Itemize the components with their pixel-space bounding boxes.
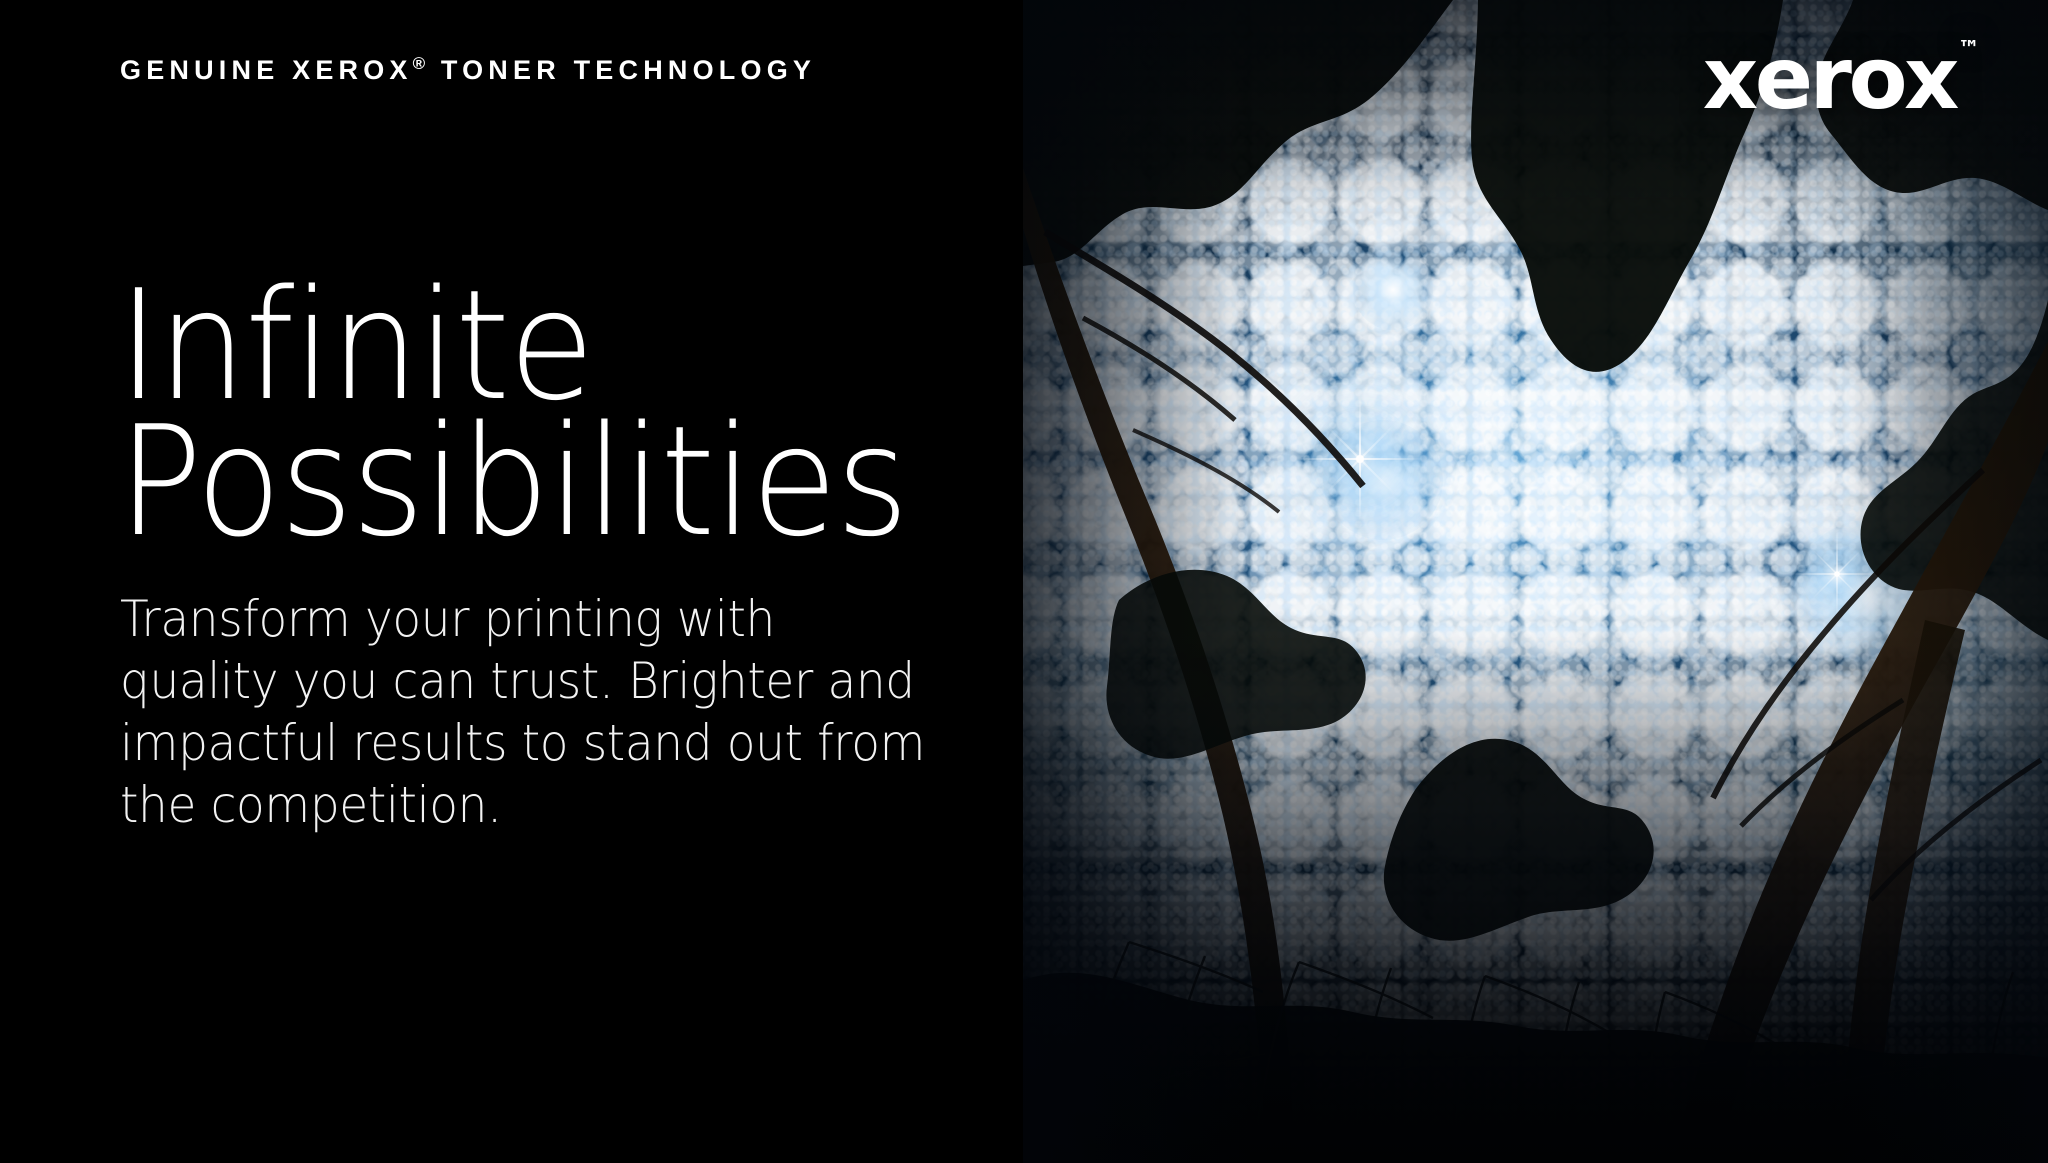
- headline-line-2: Possibilities: [118, 414, 909, 550]
- body-copy: Transform your printing with quality you…: [120, 588, 872, 836]
- registered-trademark-icon: ®: [413, 54, 429, 73]
- body-line-4: the competition.: [120, 774, 872, 836]
- body-line-2: quality you can trust. Brighter and: [120, 650, 872, 712]
- left-text-panel: GENUINE XEROX® TONER TECHNOLOGY Infinite…: [0, 0, 1023, 1163]
- eyebrow-kicker: GENUINE XEROX® TONER TECHNOLOGY: [120, 55, 816, 86]
- forest-canopy-silhouette: [1023, 0, 2048, 1163]
- xerox-wordmark: xerox: [1703, 29, 1956, 129]
- body-line-1: Transform your printing with: [120, 588, 872, 650]
- night-sky-forest-image: xerox™: [1023, 0, 2048, 1163]
- eyebrow-text-before: GENUINE XEROX: [120, 55, 413, 85]
- xerox-toner-banner: GENUINE XEROX® TONER TECHNOLOGY Infinite…: [0, 0, 2048, 1163]
- body-line-3: impactful results to stand out from: [120, 712, 872, 774]
- page-title: Infinite Possibilities: [118, 278, 909, 550]
- eyebrow-text-after: TONER TECHNOLOGY: [441, 55, 816, 85]
- trademark-icon: ™: [1958, 37, 1980, 62]
- xerox-logo: xerox™: [1703, 36, 1978, 122]
